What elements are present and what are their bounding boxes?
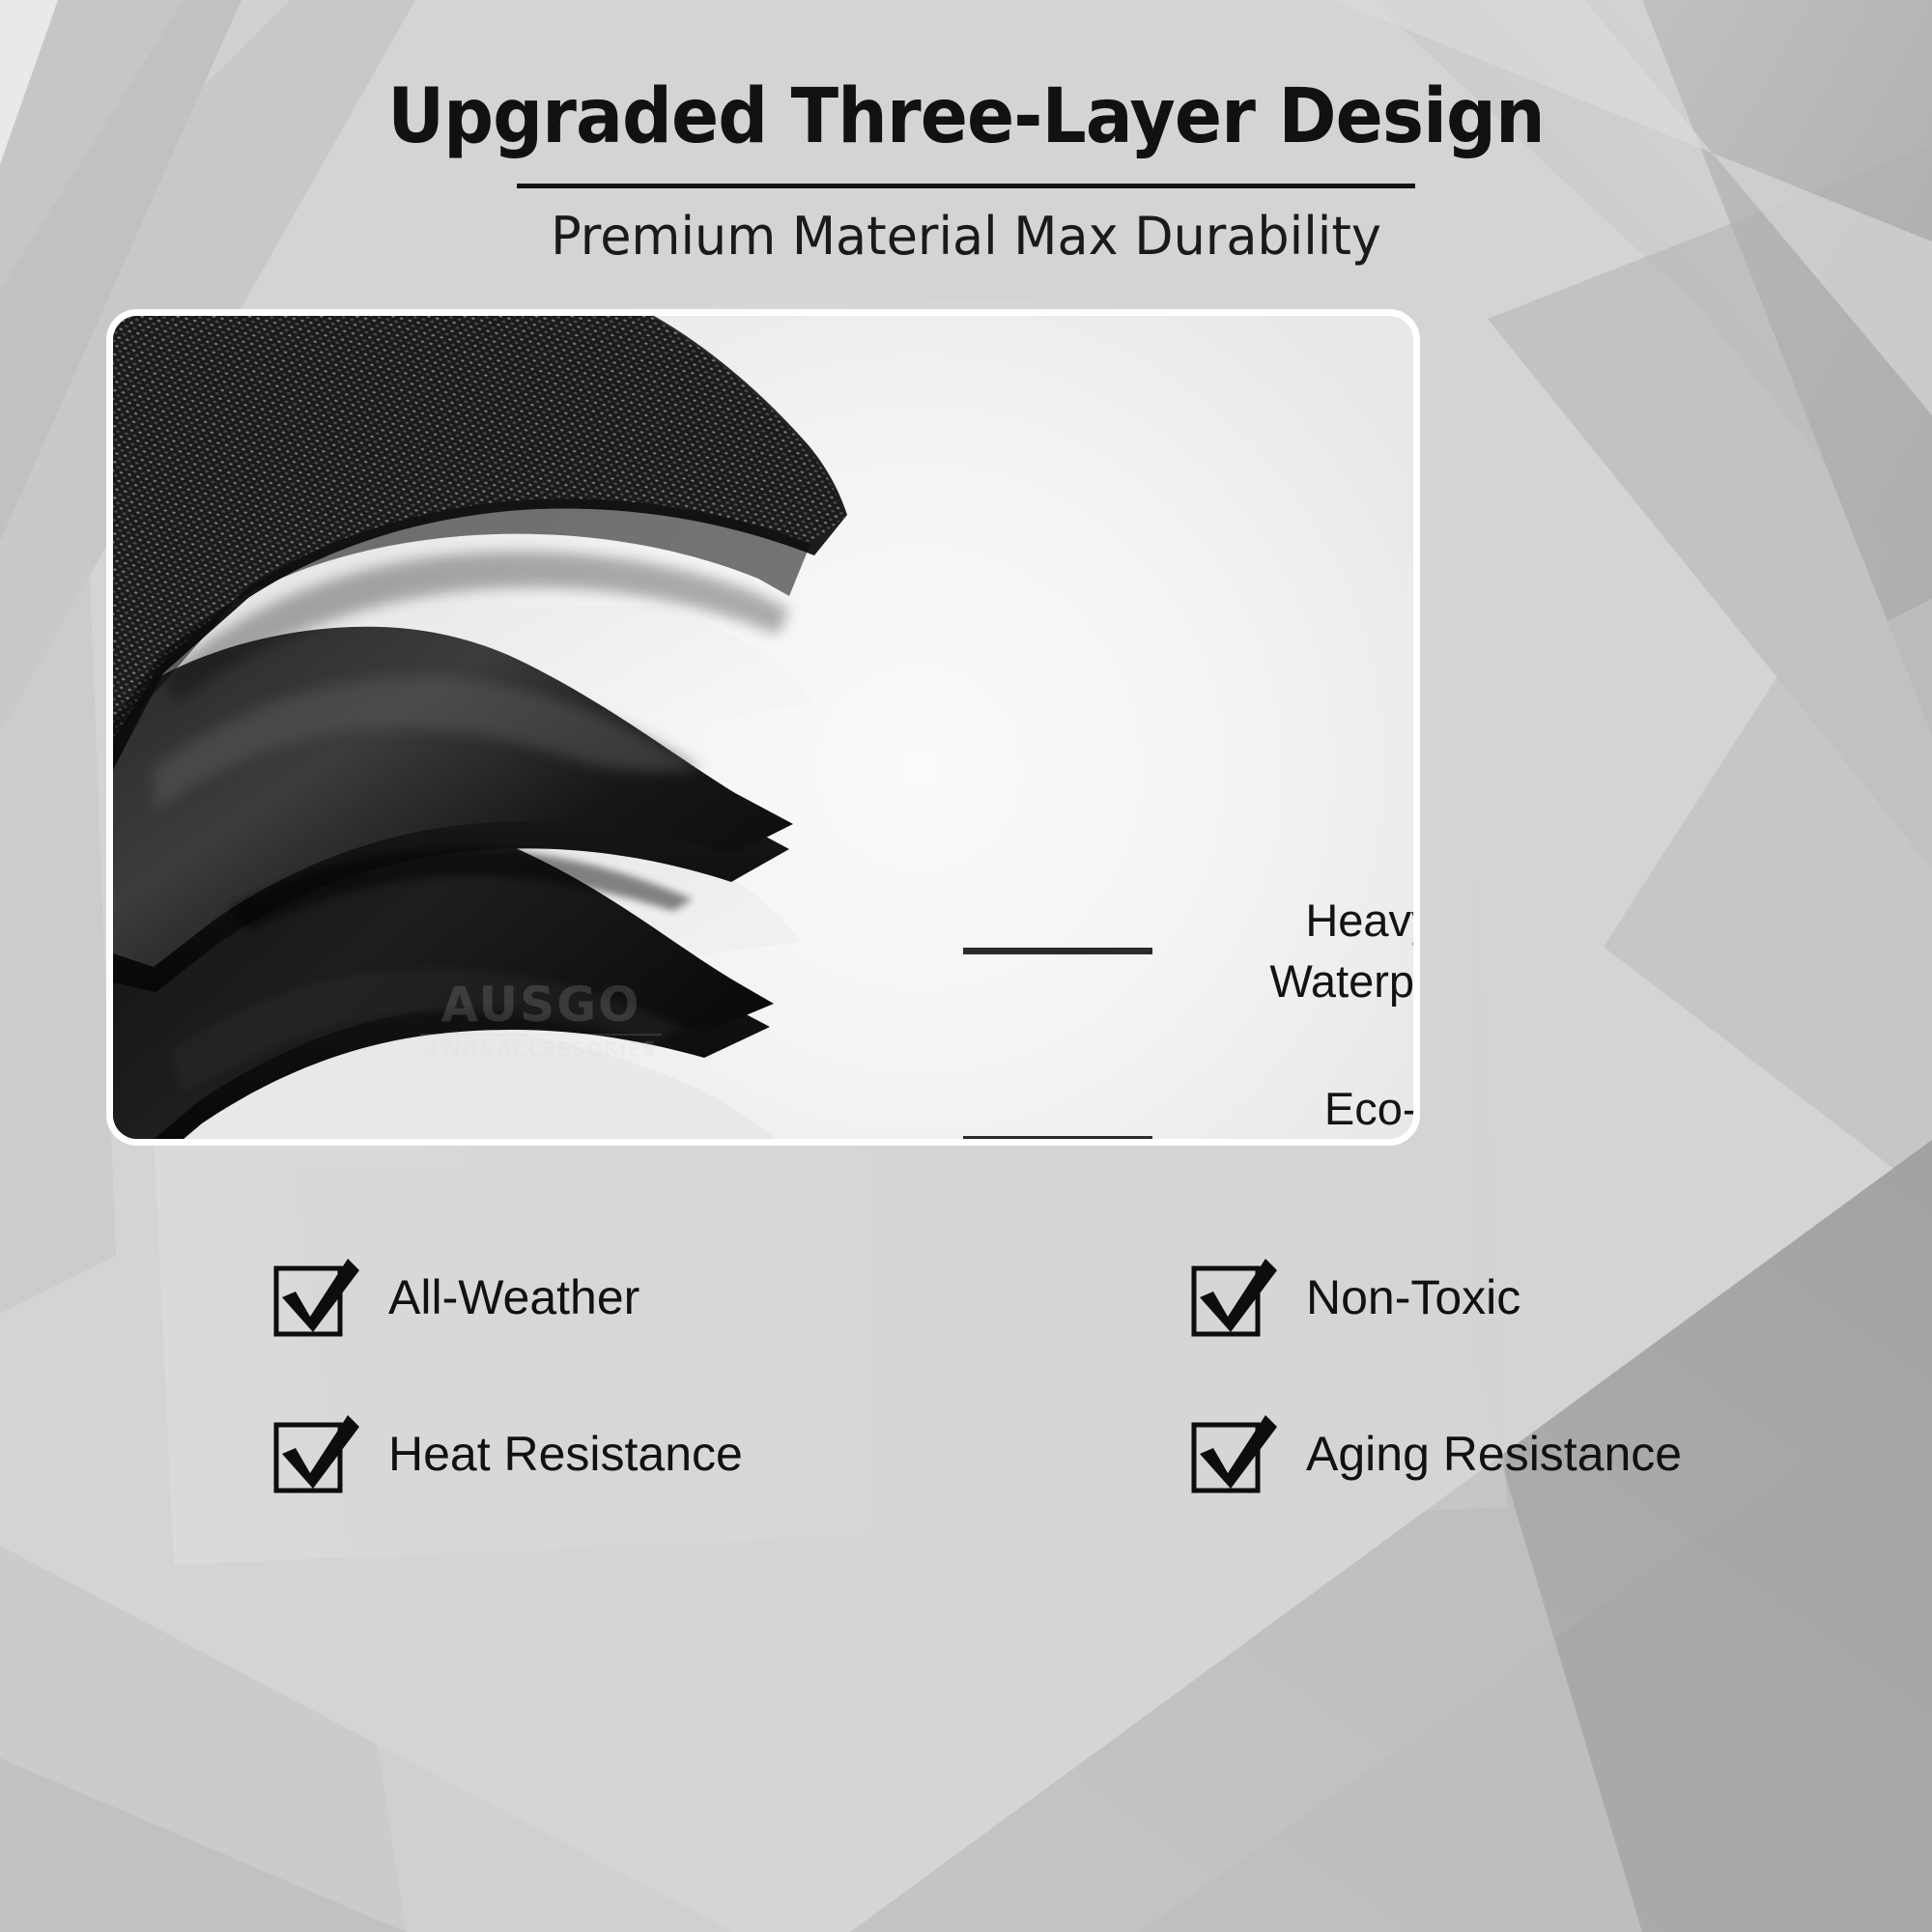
checked-checkbox-icon (270, 1411, 361, 1496)
feature-item-heat-resistance: Heat Resistance (270, 1376, 869, 1532)
layer-diagram-card: AUSGO 4WD&ACCESSORIES Heavy Duty & Water… (106, 309, 1420, 1146)
feature-label: Non-Toxic (1306, 1273, 1520, 1321)
callout-text: Heavy Duty & Waterproof Layer (1174, 891, 1420, 1011)
feature-checklist: All-Weather Non-Toxic Heat Resistance Ag… (270, 1219, 1662, 1532)
callout-line-2: TPE Material Layer (1174, 1140, 1420, 1147)
callout-heavy-duty-waterproof-layer: Heavy Duty & Waterproof Layer (963, 891, 1420, 1011)
callout-line-2: Waterproof Layer (1174, 952, 1420, 1012)
header: Upgraded Three-Layer Design Premium Mate… (0, 0, 1932, 267)
feature-label: Aging Resistance (1306, 1430, 1682, 1478)
callout-line-1: Heavy Duty & (1174, 891, 1420, 952)
page-subtitle: Premium Material Max Durability (29, 188, 1903, 267)
callout-leader-line (963, 948, 1152, 954)
feature-item-aging-resistance: Aging Resistance (869, 1376, 1468, 1532)
card-inner: AUSGO 4WD&ACCESSORIES Heavy Duty & Water… (113, 316, 1413, 1139)
callout-text: Eco-friendly TPE Material Layer (1174, 1079, 1420, 1146)
feature-item-all-weather: All-Weather (270, 1219, 869, 1376)
checked-checkbox-icon (1188, 1255, 1279, 1340)
page-title: Upgraded Three-Layer Design (68, 0, 1864, 155)
callout-line-1: Eco-friendly (1174, 1079, 1420, 1140)
feature-label: Heat Resistance (388, 1430, 743, 1478)
checked-checkbox-icon (1188, 1411, 1279, 1496)
three-layer-illustration (113, 316, 1413, 1139)
callout-leader-line (963, 1136, 1152, 1143)
checked-checkbox-icon (270, 1255, 361, 1340)
feature-label: All-Weather (388, 1273, 639, 1321)
feature-item-non-toxic: Non-Toxic (869, 1219, 1468, 1376)
callout-eco-friendly-tpe-material-layer: Eco-friendly TPE Material Layer (963, 1079, 1420, 1146)
